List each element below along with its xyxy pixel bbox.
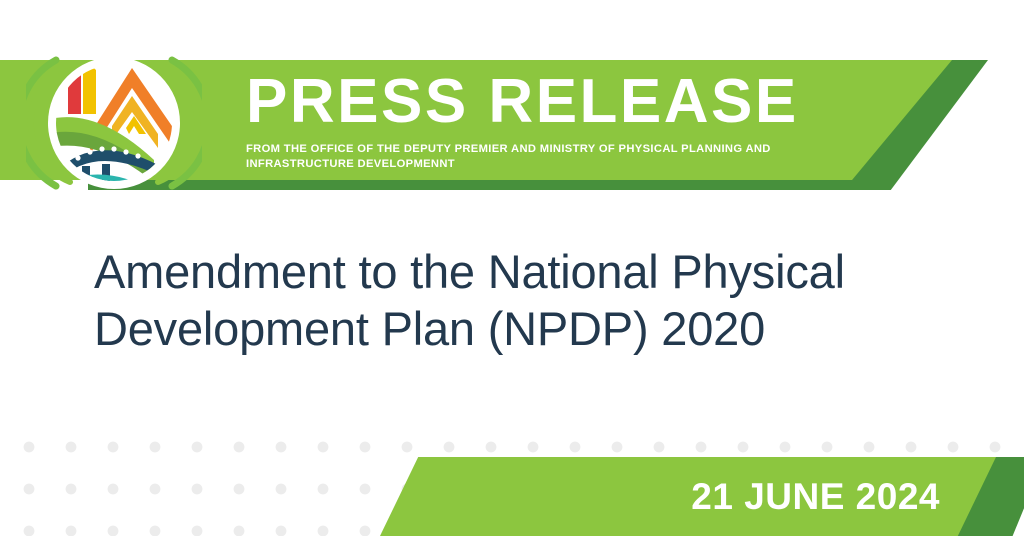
page-title: PRESS RELEASE xyxy=(246,63,866,141)
press-release-canvas: PRESS RELEASE FROM THE OFFICE OF THE DEP… xyxy=(0,0,1024,536)
ministry-logo-icon xyxy=(26,48,202,198)
header-text-block: PRESS RELEASE FROM THE OFFICE OF THE DEP… xyxy=(246,63,866,171)
header-subtitle: FROM THE OFFICE OF THE DEPUTY PREMIER AN… xyxy=(246,142,826,171)
headline: Amendment to the National Physical Devel… xyxy=(94,243,964,357)
date-label: 21 JUNE 2024 xyxy=(380,457,940,536)
